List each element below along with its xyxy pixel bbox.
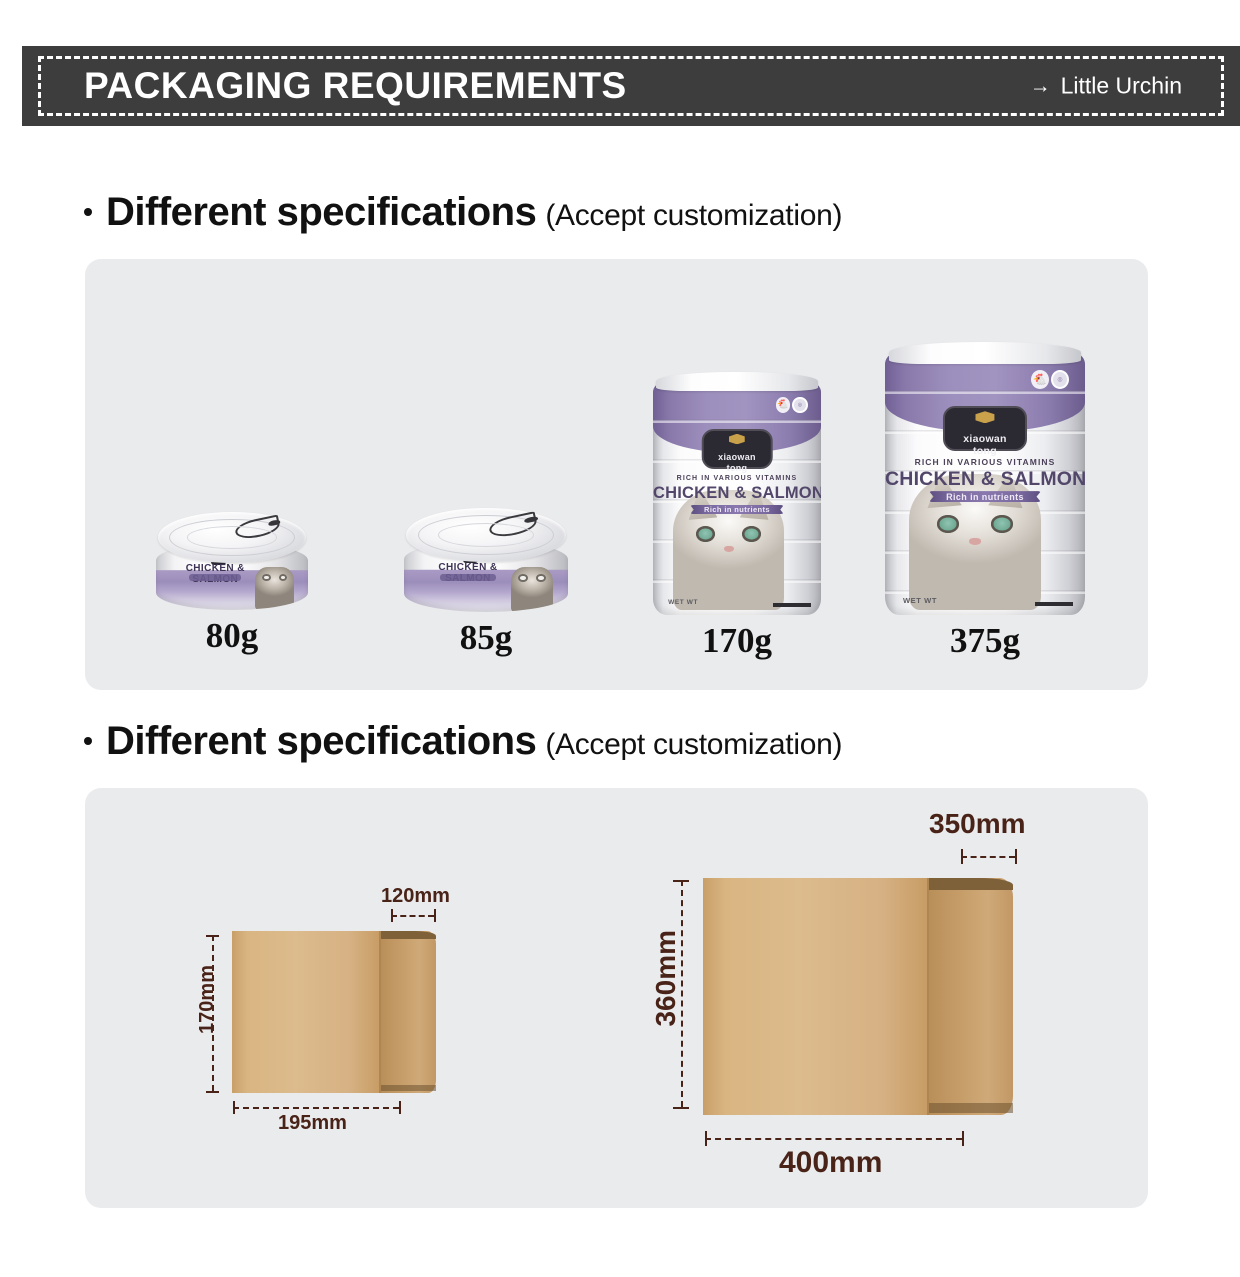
large-carton-depth-cap-left	[961, 849, 963, 864]
section-1-heading: Different specifications (Accept customi…	[84, 190, 842, 235]
carton-bottom-flap	[381, 1085, 436, 1091]
tagline-ribbon: Rich in nutrients	[929, 491, 1041, 502]
arrow-right-icon: →	[1030, 76, 1051, 97]
brand-hexagon-icon	[729, 434, 745, 445]
cat-photo	[511, 567, 554, 612]
vitamins-kicker-label: RICH IN VARIOUS VITAMINS	[885, 457, 1085, 467]
tin-body: 🐔 ◎ xiaowan tong RICH IN VARIOUS VITAMIN…	[653, 383, 821, 615]
small-carton-depth-label: 120mm	[381, 885, 450, 908]
cat-eye-left	[937, 515, 959, 533]
carton-edge-seam	[379, 931, 381, 1093]
large-carton-width-cap-left	[705, 1131, 707, 1146]
section-2-heading-main: Different specifications	[106, 719, 536, 764]
weight-label-80g: 80g	[137, 616, 327, 656]
cat-eye-right	[991, 515, 1013, 533]
can-lid	[406, 508, 567, 562]
carton-bottom-flap	[929, 1103, 1013, 1112]
carton-front-face	[232, 931, 383, 1093]
quality-seal-icon: ◎	[792, 397, 807, 413]
large-carton-height-cap-bottom	[673, 1107, 689, 1109]
carton-side-face	[929, 878, 1013, 1115]
product-card-80g[interactable]: CHICKEN & SALMON 80g	[137, 512, 327, 656]
header-brand-label: Little Urchin	[1061, 73, 1182, 100]
net-weight-label: WET WT	[668, 599, 698, 606]
carton-top-flap	[381, 931, 436, 939]
bullet-icon	[84, 208, 92, 216]
barcode-badge	[773, 603, 811, 607]
product-name-label: CHICKEN & SALMON	[885, 468, 1085, 491]
large-carton-height-label: 360mm	[650, 930, 682, 1027]
small-carton-height-cap-top	[206, 935, 219, 937]
weight-label-85g: 85g	[388, 618, 584, 658]
product-card-170g[interactable]: 🐔 ◎ xiaowan tong RICH IN VARIOUS VITAMIN…	[635, 372, 839, 661]
small-carton-depth-cap-left	[391, 909, 393, 922]
product-name-label: CHICKEN & SALMON	[653, 484, 821, 503]
brand-line-2: tong	[973, 445, 997, 457]
tagline-ribbon	[440, 574, 496, 581]
small-carton-width-cap-left	[233, 1101, 235, 1114]
large-carton-depth-label: 350mm	[929, 808, 1026, 840]
quality-seal-icon: ◎	[1051, 370, 1069, 389]
cat-photo	[255, 567, 295, 610]
header-brand-link[interactable]: → Little Urchin	[1030, 73, 1182, 100]
brand-line-1: xiaowan	[963, 433, 1007, 445]
tin-375g-illustration: 🐔 ◎ xiaowan tong RICH IN VARIOUS VITAMIN…	[885, 342, 1085, 615]
large-carton-height-line	[681, 880, 683, 1107]
vitamins-kicker-label: RICH IN VARIOUS VITAMINS	[653, 475, 821, 482]
tin-body: 🐔 ◎ xiaowan tong RICH IN VARIOUS VITAMIN…	[885, 354, 1085, 615]
carton-front-face	[703, 878, 932, 1115]
brand-badge: xiaowan tong	[702, 429, 773, 468]
small-carton-height-cap-bottom	[206, 1091, 219, 1093]
cat-eye-left	[696, 526, 715, 542]
small-carton-height-line	[212, 935, 214, 1091]
page-title: PACKAGING REQUIREMENTS	[84, 65, 627, 107]
large-carton-height-cap-top	[673, 880, 689, 882]
chicken-icon: 🐔	[776, 397, 791, 413]
small-carton-width-cap-right	[399, 1101, 401, 1114]
weight-label-375g: 375g	[872, 621, 1098, 661]
carton-side-face	[381, 931, 436, 1093]
tin-170g-illustration: 🐔 ◎ xiaowan tong RICH IN VARIOUS VITAMIN…	[653, 372, 821, 615]
tin-lid	[889, 342, 1081, 364]
carton-edge-seam	[927, 878, 929, 1115]
can-lid	[158, 512, 307, 563]
large-carton-width-label: 400mm	[779, 1146, 882, 1180]
tagline-ribbon: Rich in nutrients	[690, 505, 784, 515]
small-carton-width-label: 195mm	[278, 1112, 347, 1135]
net-weight-label: WET WT	[903, 596, 937, 605]
chicken-icon: 🐔	[1031, 370, 1049, 389]
product-card-85g[interactable]: CHICKEN & SALMON 85g	[388, 508, 584, 658]
section-2-heading-sub: (Accept customization)	[545, 728, 842, 762]
section-1-heading-sub: (Accept customization)	[545, 199, 842, 233]
header-bar: PACKAGING REQUIREMENTS → Little Urchin	[22, 46, 1240, 126]
small-carton-height-label: 170mm	[196, 965, 219, 1034]
large-carton-depth-cap-right	[1015, 849, 1017, 864]
cat-nose	[724, 546, 734, 552]
large-carton-width-line	[705, 1138, 962, 1140]
tin-badge-group: 🐔 ◎	[776, 397, 808, 413]
small-carton-width-line	[233, 1107, 399, 1109]
section-1-heading-main: Different specifications	[106, 190, 536, 235]
tin-badge-group: 🐔 ◎	[1031, 370, 1069, 389]
large-carton-illustration	[703, 878, 1013, 1115]
cat-eye-right	[742, 526, 761, 542]
brand-badge: xiaowan tong	[943, 406, 1027, 450]
can-80g-illustration: CHICKEN & SALMON	[156, 512, 308, 610]
weight-label-170g: 170g	[635, 621, 839, 661]
can-85g-illustration: CHICKEN & SALMON	[404, 508, 568, 612]
small-carton-depth-line	[391, 915, 434, 917]
brand-line-2: tong	[727, 463, 748, 473]
barcode-badge	[1035, 602, 1073, 606]
small-carton-depth-cap-right	[434, 909, 436, 922]
section-2-heading: Different specifications (Accept customi…	[84, 719, 842, 764]
brand-hexagon-icon	[975, 411, 994, 423]
tin-lid	[656, 372, 817, 391]
pull-tab-icon	[488, 511, 539, 540]
brand-line-1: xiaowan	[718, 452, 756, 462]
large-carton-width-cap-right	[962, 1131, 964, 1146]
tagline-ribbon	[189, 574, 241, 581]
cat-nose	[969, 538, 981, 545]
carton-top-flap	[929, 878, 1013, 890]
pull-tab-icon	[234, 515, 282, 542]
small-carton-illustration	[232, 931, 436, 1093]
product-card-375g[interactable]: 🐔 ◎ xiaowan tong RICH IN VARIOUS VITAMIN…	[872, 342, 1098, 661]
bullet-icon	[84, 737, 92, 745]
large-carton-depth-line	[961, 856, 1015, 858]
